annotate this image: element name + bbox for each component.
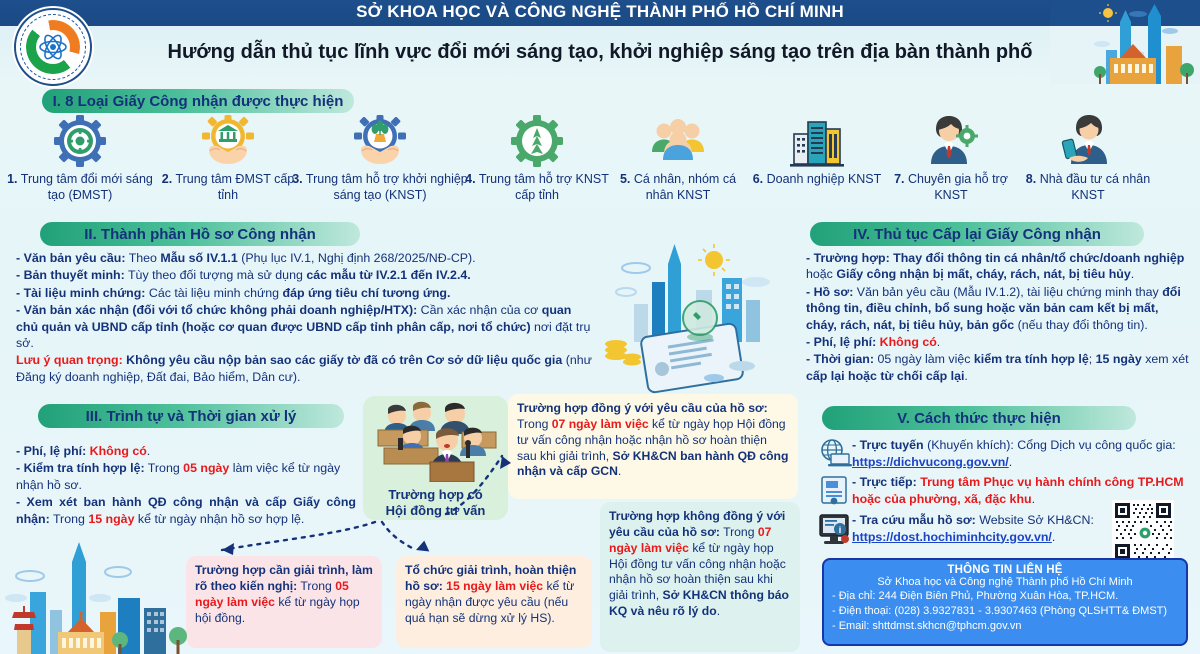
infographic-page: SỞ KHOA HỌC VÀ CÔNG NGHỆ THÀNH PHỐ HỒ CH… [0,0,1200,654]
expert-person-gear-icon [886,112,1016,168]
section-2-line-3: - Tài liệu minh chứng: Các tài liệu minh… [16,285,592,301]
section-2-line-4: - Văn bản xác nhận (đối với tổ chức khôn… [16,302,592,351]
svg-text:i: i [839,525,842,535]
certificate-card-4: 4. Trung tâm hỗ trợ KNST cấp tỉnh [462,112,612,203]
document-icon [818,474,850,506]
contact-info-box: THÔNG TIN LIÊN HỆ Sở Khoa học và Công ng… [822,558,1188,646]
dichvucong-link[interactable]: https://dichvucong.gov.vn/ [852,455,1009,469]
globe-laptop-icon [818,438,852,468]
so-khoa-hoc-cong-nghe-logo [14,8,92,86]
certificate-card-5: 5. Cá nhân, nhóm cá nhân KNST [608,112,748,203]
section-5-banner: V. Cách thức thực hiện [822,406,1136,430]
section-2-content: - Văn bản yêu cầu: Theo Mẫu số IV.1.1 (P… [16,250,592,386]
flow-box-disagree: Trường hợp không đồng ý với yêu cầu của … [600,502,800,652]
bottom-city-skyline-decoration [0,540,200,654]
section-4-time-line: - Thời gian: 05 ngày làm việc kiểm tra t… [806,351,1190,384]
contact-org: Sở Khoa học và Công nghệ Thành phố Hồ Ch… [832,576,1178,588]
gear-star-icon [462,112,612,168]
section-3-fee-line: - Phí, lệ phí: Không có. [16,443,356,459]
contact-title: THÔNG TIN LIÊN HỆ [832,564,1178,576]
certificate-card-5-label: 5. Cá nhân, nhóm cá nhân KNST [608,172,748,203]
section-1-banner: I. 8 Loại Giấy Công nhận được thực hiện [42,89,354,113]
investor-person-icon [1018,112,1158,168]
hands-plant-gear-icon [292,112,468,168]
certificate-card-1: 1. Trung tâm đổi mới sáng tạo (ĐMST) [0,112,160,203]
certificate-card-3: 3. Trung tâm hỗ trợ khởi nghiệp sáng tạo… [292,112,468,203]
flow-arrow-council-to-agree [318,418,518,528]
section-2-line-2: - Bản thuyết minh: Tùy theo đối tượng mà… [16,267,592,283]
certificate-card-6-label: 6. Doanh nghiệp KNST [752,172,882,188]
contact-email: - Email: shttdmst.skhcn@tphcm.gov.vn [832,619,1178,634]
certificate-card-7-label: 7. Chuyên gia hỗ trợ KNST [886,172,1016,203]
dost-link[interactable]: https://dost.hochiminhcity.gov.vn/ [852,530,1052,544]
certificate-card-7: 7. Chuyên gia hỗ trợ KNST [886,112,1016,203]
organization-title: SỞ KHOA HỌC VÀ CÔNG NGHỆ THÀNH PHỐ HỒ CH… [0,2,1200,22]
certificate-card-8: 8. Nhà đầu tư cá nhân KNST [1018,112,1158,203]
qr-code[interactable] [1112,500,1174,562]
monitor-info-icon: i [818,512,850,546]
header-city-skyline-decoration [1050,0,1200,84]
section-4-banner: IV. Thủ tục Cấp lại Giấy Công nhận [810,222,1144,246]
flow-box-agree: Trường hợp đồng ý với yêu cầu của hồ sơ:… [508,394,798,499]
certificate-card-8-label: 8. Nhà đầu tư cá nhân KNST [1018,172,1158,203]
section-4-content: - Trường hợp: Thay đổi thông tin cá nhân… [806,250,1190,385]
section-3-validity-line: - Kiểm tra tính hợp lệ: Trong 05 ngày là… [16,460,356,493]
section-3-banner: III. Trình tự và Thời gian xử lý [38,404,344,428]
digital-city-illustration [596,238,796,398]
section-4-dossier-line: - Hồ sơ: Văn bản yêu cầu (Mẫu IV.1.2), t… [806,284,1190,333]
section-2-banner: II. Thành phần Hồ sơ Công nhận [40,222,360,246]
certificate-card-6: 6. Doanh nghiệp KNST [752,112,882,188]
section-4-case-line: - Trường hợp: Thay đổi thông tin cá nhân… [806,250,1190,283]
section-5-item-online: - Trực tuyến (Khuyến khích): Cổng Dịch v… [852,437,1188,470]
contact-phone: - Điện thoại: (028) 3.9327831 - 3.930746… [832,604,1178,619]
gear-innovation-icon [0,112,160,168]
certificate-card-3-label: 3. Trung tâm hỗ trợ khởi nghiệp sáng tạo… [292,172,468,203]
hands-bank-gear-icon [158,112,298,168]
certificate-card-1-label: 1. Trung tâm đổi mới sáng tạo (ĐMST) [0,172,160,203]
contact-address: - Địa chỉ: 244 Điện Biên Phủ, Phường Xuâ… [832,589,1178,604]
section-2-line-1: - Văn bản yêu cầu: Theo Mẫu số IV.1.1 (P… [16,250,592,266]
certificate-card-2: 2. Trung tâm ĐMST cấp tỉnh [158,112,298,203]
certificate-type-cards: 1. Trung tâm đổi mới sáng tạo (ĐMST) [0,112,1200,210]
section-4-fee-line: - Phí, lệ phí: Không có. [806,334,1190,350]
section-2-important-note: Lưu ý quan trọng: Không yêu cầu nộp bản … [16,352,592,385]
certificate-card-2-label: 2. Trung tâm ĐMST cấp tỉnh [158,172,298,203]
buildings-icon [752,112,882,168]
certificate-card-4-label: 4. Trung tâm hỗ trợ KNST cấp tỉnh [462,172,612,203]
section-5-item-lookup: - Tra cứu mẫu hồ sơ: Website Sở KH&CN: h… [852,512,1142,545]
people-group-icon [608,112,748,168]
page-title: Hướng dẫn thủ tục lĩnh vực đổi mới sáng … [120,40,1080,64]
logo-dashed-ring [20,14,86,80]
